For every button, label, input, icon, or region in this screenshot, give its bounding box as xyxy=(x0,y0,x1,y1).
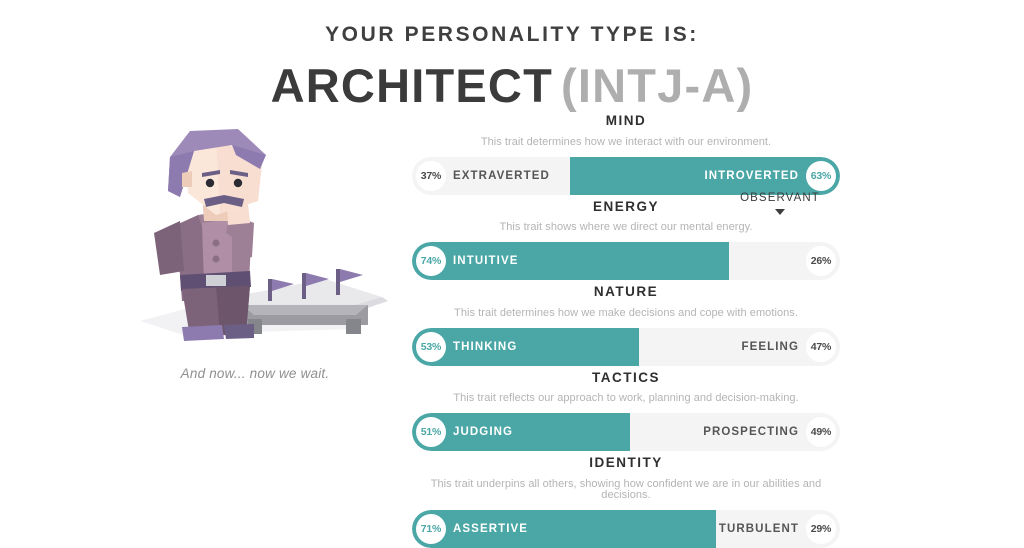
trait-description: This trait underpins all others, showing… xyxy=(412,479,840,501)
trait-tactics: TACTICS This trait reflects our approach… xyxy=(412,366,840,452)
trait-mind: MIND This trait determines how we intera… xyxy=(412,109,840,195)
page-title: ARCHITECT(INTJ-A) xyxy=(0,62,1024,109)
trait-bar-tactics[interactable]: 51% JUDGING PROSPECTING 49% xyxy=(412,413,840,451)
trait-bar-nature[interactable]: 53% THINKING FEELING 47% xyxy=(412,328,840,366)
content-area: And now... now we wait. MIND This trait … xyxy=(0,109,1024,499)
trait-fill xyxy=(412,328,639,366)
trait-right-label: PROSPECTING xyxy=(703,426,799,438)
trait-left-label: EXTRAVERTED xyxy=(453,170,550,182)
trait-right-label: FEELING xyxy=(741,341,799,353)
trait-description: This trait reflects our approach to work… xyxy=(412,393,840,404)
trait-left-label: ASSERTIVE xyxy=(453,523,528,535)
trait-description: This trait shows where we direct our men… xyxy=(412,222,840,233)
trait-nature: NATURE This trait determines how we make… xyxy=(412,280,840,366)
trait-bar-identity[interactable]: 71% ASSERTIVE TURBULENT 29% xyxy=(412,510,840,548)
trait-left-percent: 71% xyxy=(416,514,446,544)
page-header: YOUR PERSONALITY TYPE IS: ARCHITECT(INTJ… xyxy=(0,0,1024,109)
trait-list: MIND This trait determines how we intera… xyxy=(412,109,840,548)
trait-title: MIND xyxy=(412,109,840,128)
trait-bar-energy[interactable]: 74% INTUITIVE 26% xyxy=(412,242,840,280)
trait-left-label: INTUITIVE xyxy=(453,255,519,267)
trait-title: NATURE xyxy=(412,280,840,299)
personality-type-code: (INTJ-A) xyxy=(561,59,753,112)
trait-right-percent: 29% xyxy=(806,514,836,544)
trait-left-label: THINKING xyxy=(453,341,517,353)
trait-left-percent: 37% xyxy=(416,161,446,191)
trait-identity: IDENTITY This trait underpins all others… xyxy=(412,451,840,548)
trait-left-percent: 74% xyxy=(416,246,446,276)
trait-right-percent: 49% xyxy=(806,417,836,447)
trait-right-percent: 63% xyxy=(806,161,836,191)
trait-description: This trait determines how we interact wi… xyxy=(412,137,840,148)
trait-bar-mind[interactable]: 37% EXTRAVERTED INTROVERTED 63% xyxy=(412,157,840,195)
architect-character-illustration xyxy=(120,129,390,344)
page-kicker: YOUR PERSONALITY TYPE IS: xyxy=(0,24,1024,45)
character-panel: And now... now we wait. xyxy=(120,129,390,381)
character-caption: And now... now we wait. xyxy=(120,366,390,381)
personality-type-name: ARCHITECT xyxy=(271,59,553,112)
trait-title: IDENTITY xyxy=(412,451,840,470)
trait-title: ENERGY xyxy=(412,195,840,214)
trait-right-label: TURBULENT xyxy=(719,523,799,535)
trait-right-label: INTROVERTED xyxy=(704,170,799,182)
trait-description: This trait determines how we make decisi… xyxy=(412,308,840,319)
trait-right-percent: 26% xyxy=(806,246,836,276)
trait-title: TACTICS xyxy=(412,366,840,385)
trait-right-percent: 47% xyxy=(806,332,836,362)
trait-left-percent: 51% xyxy=(416,417,446,447)
trait-energy: ENERGY This trait shows where we direct … xyxy=(412,195,840,281)
trait-left-label: JUDGING xyxy=(453,426,513,438)
trait-left-percent: 53% xyxy=(416,332,446,362)
